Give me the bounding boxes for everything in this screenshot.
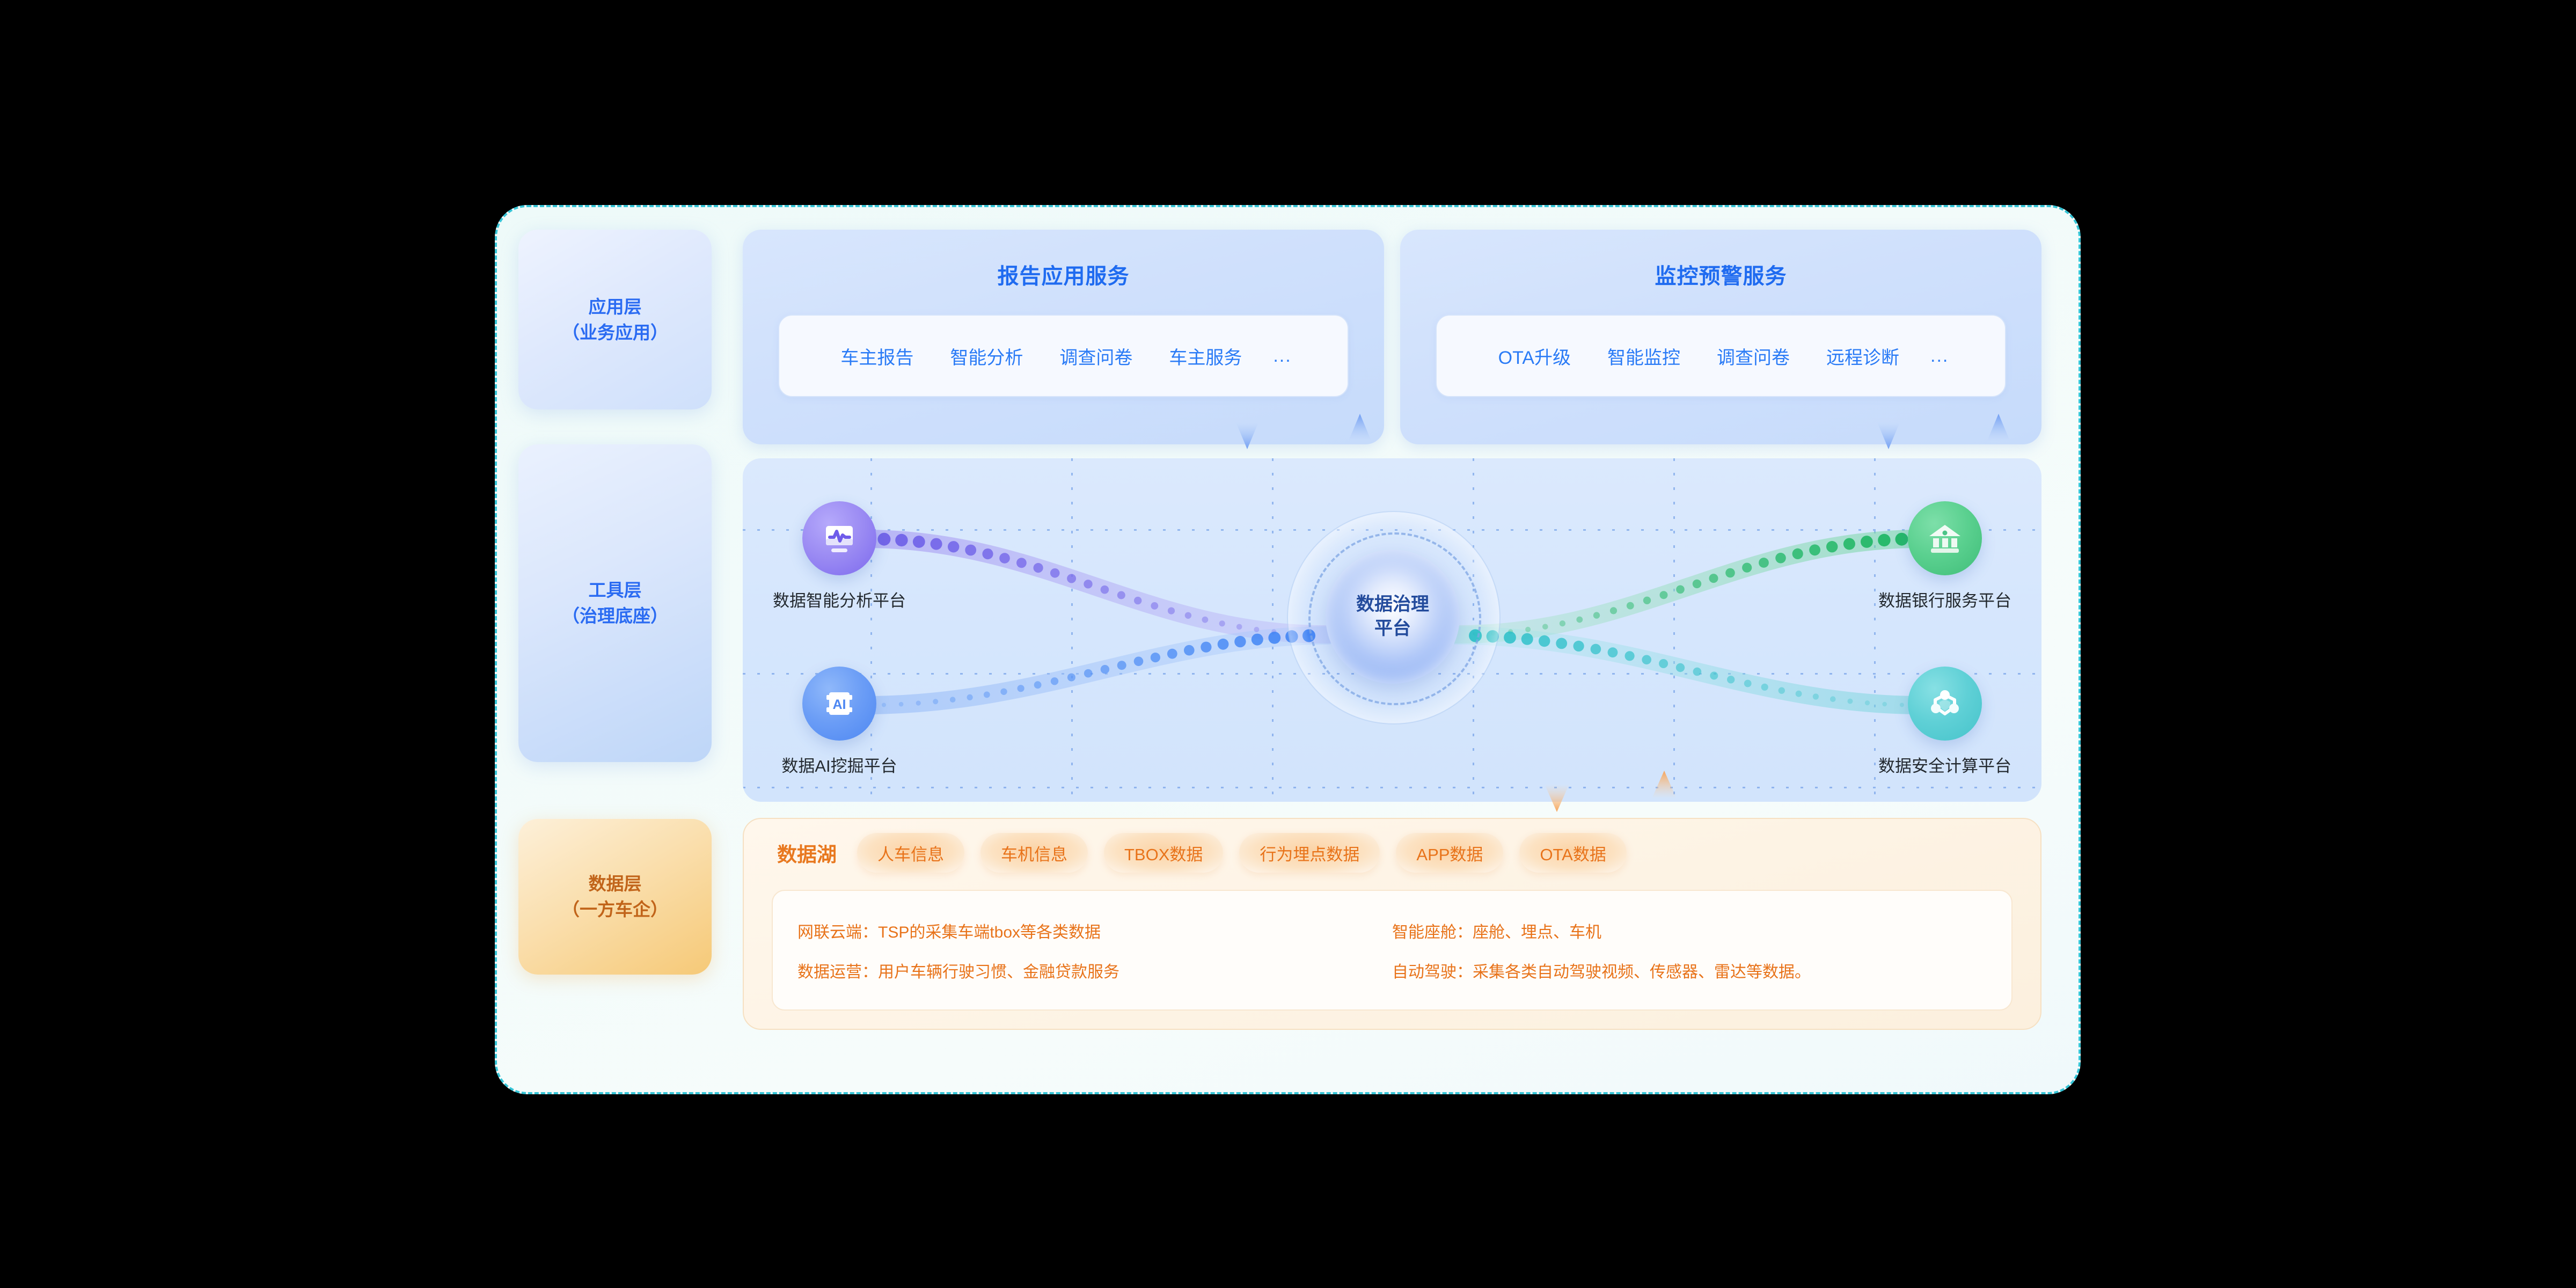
tool-node-ai[interactable]: AI 数据AI挖掘平台 [786, 667, 893, 777]
arrow-up-data-to-tool [1650, 771, 1679, 809]
note-autonomous-driving: 自动驾驶：采集各类自动驾驶视频、传感器、雷达等数据。 [1392, 958, 1987, 982]
tool-node-security-label: 数据安全计算平台 [1878, 752, 2011, 777]
layer-label-data-line2: （一方车企） [562, 897, 668, 923]
tool-node-ai-label: 数据AI挖掘平台 [781, 752, 897, 777]
application-card-monitor[interactable]: 监控预警服务 OTA升级 智能监控 调查问卷 远程诊断 ... [1400, 230, 2041, 444]
tool-node-analysis-label: 数据智能分析平台 [773, 587, 906, 611]
layer-label-tool-line2: （治理底座） [562, 603, 668, 629]
svg-text:AI: AI [833, 697, 846, 712]
application-card-monitor-title: 监控预警服务 [1655, 259, 1787, 290]
application-card-report-chip-row: 车主报告 智能分析 调查问卷 车主服务 ... [778, 314, 1349, 397]
application-card-report-title: 报告应用服务 [998, 259, 1130, 290]
chip-smart-analysis[interactable]: 智能分析 [932, 343, 1041, 369]
layer-label-data: 数据层 （一方车企） [518, 819, 712, 975]
chip-questionnaire[interactable]: 调查问卷 [1041, 343, 1151, 369]
shield-network-icon [1908, 667, 1982, 741]
note-smart-cockpit: 智能座舱：座舱、埋点、车机 [1392, 919, 1987, 942]
data-layer: 数据湖 人车信息 车机信息 TBOX数据 行为埋点数据 APP数据 OTA数据 … [743, 818, 2041, 1030]
tool-layer: 数据智能分析平台 AI 数据AI挖掘平台 [743, 458, 2041, 802]
tool-node-analysis[interactable]: 数据智能分析平台 [786, 501, 893, 611]
central-hub[interactable]: 数据治理 平台 [1326, 550, 1460, 684]
data-tag-person-vehicle[interactable]: 人车信息 [857, 833, 964, 873]
chip-remote-diagnosis[interactable]: 远程诊断 [1808, 343, 1918, 369]
data-lake-title: 数据湖 [777, 838, 837, 867]
data-lake-row: 数据湖 人车信息 车机信息 TBOX数据 行为埋点数据 APP数据 OTA数据 [744, 819, 2040, 887]
tool-node-bank-label: 数据银行服务平台 [1878, 587, 2011, 611]
layer-label-tool: 工具层 （治理底座） [518, 444, 712, 762]
application-card-report[interactable]: 报告应用服务 车主报告 智能分析 调查问卷 车主服务 ... [743, 230, 1384, 444]
chip-ota-upgrade[interactable]: OTA升级 [1480, 343, 1589, 369]
layer-label-data-line1: 数据层 [562, 871, 668, 897]
arrow-down-app-to-tool-right [1876, 414, 1901, 449]
hub-dashed-ring [1308, 532, 1481, 705]
data-notes-right-column: 智能座舱：座舱、埋点、车机 自动驾驶：采集各类自动驾驶视频、传感器、雷达等数据。 [1392, 919, 1987, 982]
tool-node-security[interactable]: 数据安全计算平台 [1891, 667, 1999, 777]
data-tag-ota[interactable]: OTA数据 [1519, 833, 1626, 873]
ai-chip-icon: AI [802, 667, 876, 741]
application-layer: 报告应用服务 车主报告 智能分析 调查问卷 车主服务 ... 监控预警服务 OT… [743, 230, 2041, 444]
data-notes-panel: 网联云端：TSP的采集车端tbox等各类数据 数据运营：用户车辆行驶习惯、金融贷… [772, 890, 2012, 1011]
data-tag-vehicle-machine[interactable]: 车机信息 [980, 833, 1088, 873]
arrow-up-tool-to-app-left [1348, 414, 1372, 449]
note-data-operation: 数据运营：用户车辆行驶习惯、金融贷款服务 [797, 958, 1392, 982]
chip-owner-service[interactable]: 车主服务 [1151, 343, 1260, 369]
data-tag-tbox[interactable]: TBOX数据 [1104, 833, 1223, 873]
note-connected-cloud: 网联云端：TSP的采集车端tbox等各类数据 [797, 919, 1392, 942]
arrow-down-tool-to-data [1542, 773, 1571, 812]
chip-questionnaire-2[interactable]: 调查问卷 [1699, 343, 1808, 369]
architecture-container: 应用层 （业务应用） 工具层 （治理底座） 数据层 （一方车企） 报告应用服务 … [495, 205, 2081, 1094]
layer-label-application-line2: （业务应用） [562, 320, 668, 346]
chip-smart-monitor[interactable]: 智能监控 [1589, 343, 1699, 369]
application-card-monitor-chip-row: OTA升级 智能监控 调查问卷 远程诊断 ... [1436, 314, 2006, 397]
layer-label-application: 应用层 （业务应用） [518, 230, 712, 409]
monitor-chart-icon [802, 501, 876, 575]
layer-label-tool-line1: 工具层 [562, 577, 668, 603]
chip-more-monitor[interactable]: ... [1918, 346, 1962, 367]
data-tag-behavior-tracking[interactable]: 行为埋点数据 [1239, 833, 1380, 873]
data-tag-app[interactable]: APP数据 [1396, 833, 1503, 873]
chip-owner-report[interactable]: 车主报告 [822, 343, 932, 369]
tool-node-bank[interactable]: 数据银行服务平台 [1891, 501, 1999, 611]
data-notes-left-column: 网联云端：TSP的采集车端tbox等各类数据 数据运营：用户车辆行驶习惯、金融贷… [797, 919, 1392, 982]
arrow-down-app-to-tool-left [1235, 414, 1260, 449]
diagram-canvas: 应用层 （业务应用） 工具层 （治理底座） 数据层 （一方车企） 报告应用服务 … [0, 0, 2576, 1288]
chip-more-report[interactable]: ... [1260, 346, 1304, 367]
layer-label-application-line1: 应用层 [562, 294, 668, 320]
bank-building-icon [1908, 501, 1982, 575]
arrow-up-tool-to-app-right [1986, 414, 2011, 449]
